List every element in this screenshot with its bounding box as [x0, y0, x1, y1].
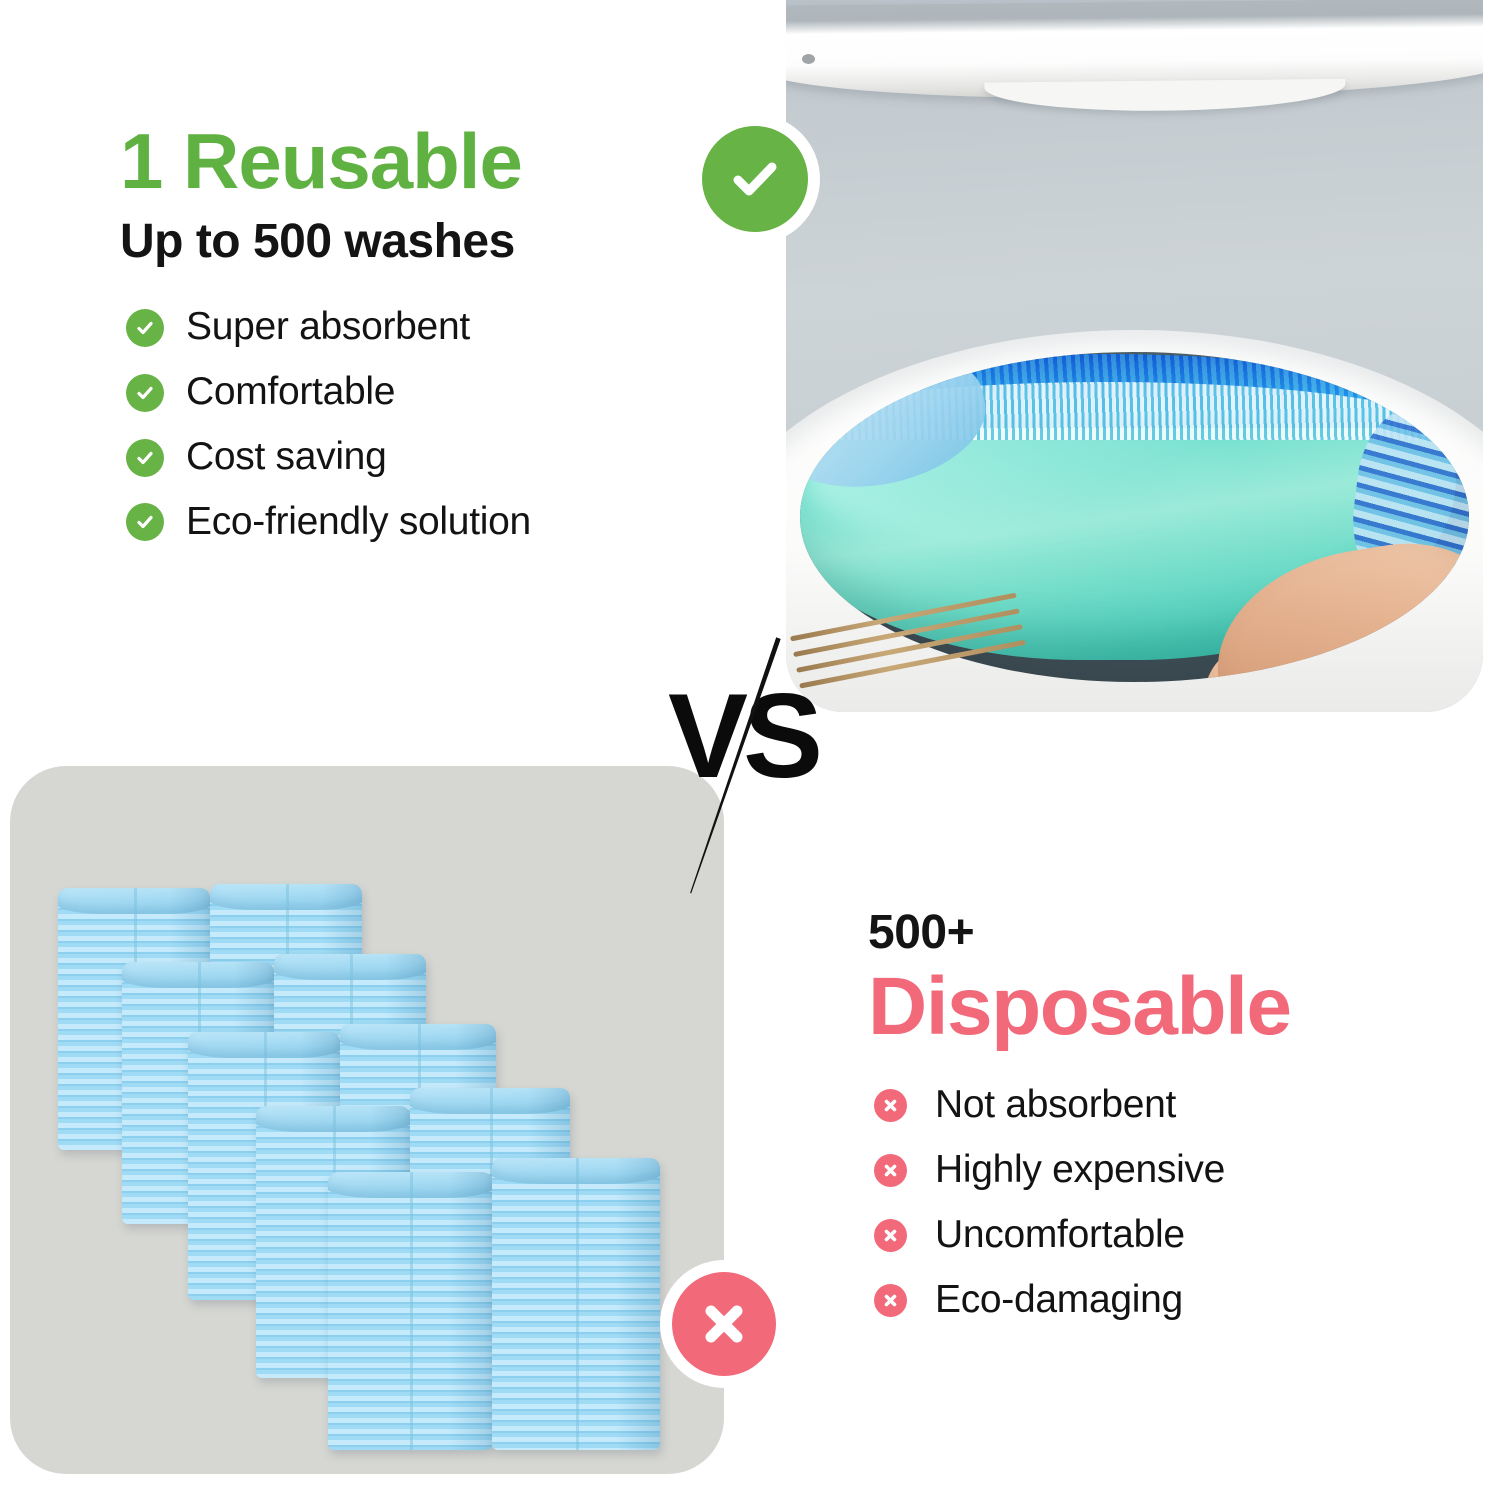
- reusable-title: 1 Reusable: [120, 122, 740, 202]
- disposable-drawbacks-list: Not absorbent Highly expensive Uncomfort…: [868, 1084, 1468, 1322]
- reusable-text-column: 1 Reusable Up to 500 washes Super absorb…: [120, 122, 740, 566]
- x-icon: [874, 1154, 907, 1187]
- reusable-photo: [786, 0, 1483, 712]
- check-icon: [126, 439, 164, 477]
- reusable-benefits-list: Super absorbent Comfortable Cost saving: [120, 306, 740, 544]
- check-icon: [126, 309, 164, 347]
- check-icon: [126, 503, 164, 541]
- list-item-label: Eco-friendly solution: [186, 501, 531, 544]
- list-item-label: Uncomfortable: [935, 1214, 1185, 1257]
- list-item: Uncomfortable: [868, 1214, 1468, 1257]
- list-item: Cost saving: [120, 436, 740, 479]
- list-item: Eco-damaging: [868, 1279, 1468, 1322]
- x-icon: [874, 1219, 907, 1252]
- disposable-text-column: 500+ Disposable Not absorbent Highly exp…: [868, 908, 1468, 1344]
- list-item-label: Cost saving: [186, 436, 386, 479]
- list-item: Comfortable: [120, 371, 740, 414]
- pad-stack: [328, 1172, 492, 1450]
- pad-stack: [492, 1158, 660, 1450]
- x-icon: [874, 1089, 907, 1122]
- list-item-label: Comfortable: [186, 371, 395, 414]
- palm: [1202, 528, 1469, 682]
- lid-screw-icon: [802, 54, 815, 64]
- x-icon: [874, 1284, 907, 1317]
- reusable-subtitle: Up to 500 washes: [120, 216, 740, 269]
- list-item: Super absorbent: [120, 306, 740, 349]
- list-item: Highly expensive: [868, 1149, 1468, 1192]
- infographic-canvas: VS 1 Reusable Up to 500 washes Super abs…: [0, 0, 1500, 1488]
- disposable-count: 500+: [868, 908, 1468, 958]
- hand: [1175, 540, 1469, 682]
- list-item-label: Highly expensive: [935, 1149, 1225, 1192]
- disposable-title: Disposable: [868, 964, 1468, 1050]
- x-circle-icon: [672, 1272, 776, 1376]
- disposable-photo: [10, 766, 724, 1474]
- list-item-label: Super absorbent: [186, 306, 470, 349]
- list-item: Not absorbent: [868, 1084, 1468, 1127]
- washing-machine-lid: [786, 0, 1483, 102]
- list-item-label: Eco-damaging: [935, 1279, 1183, 1322]
- check-icon: [126, 374, 164, 412]
- list-item: Eco-friendly solution: [120, 501, 740, 544]
- list-item-label: Not absorbent: [935, 1084, 1176, 1127]
- versus-mark: VS: [668, 676, 848, 856]
